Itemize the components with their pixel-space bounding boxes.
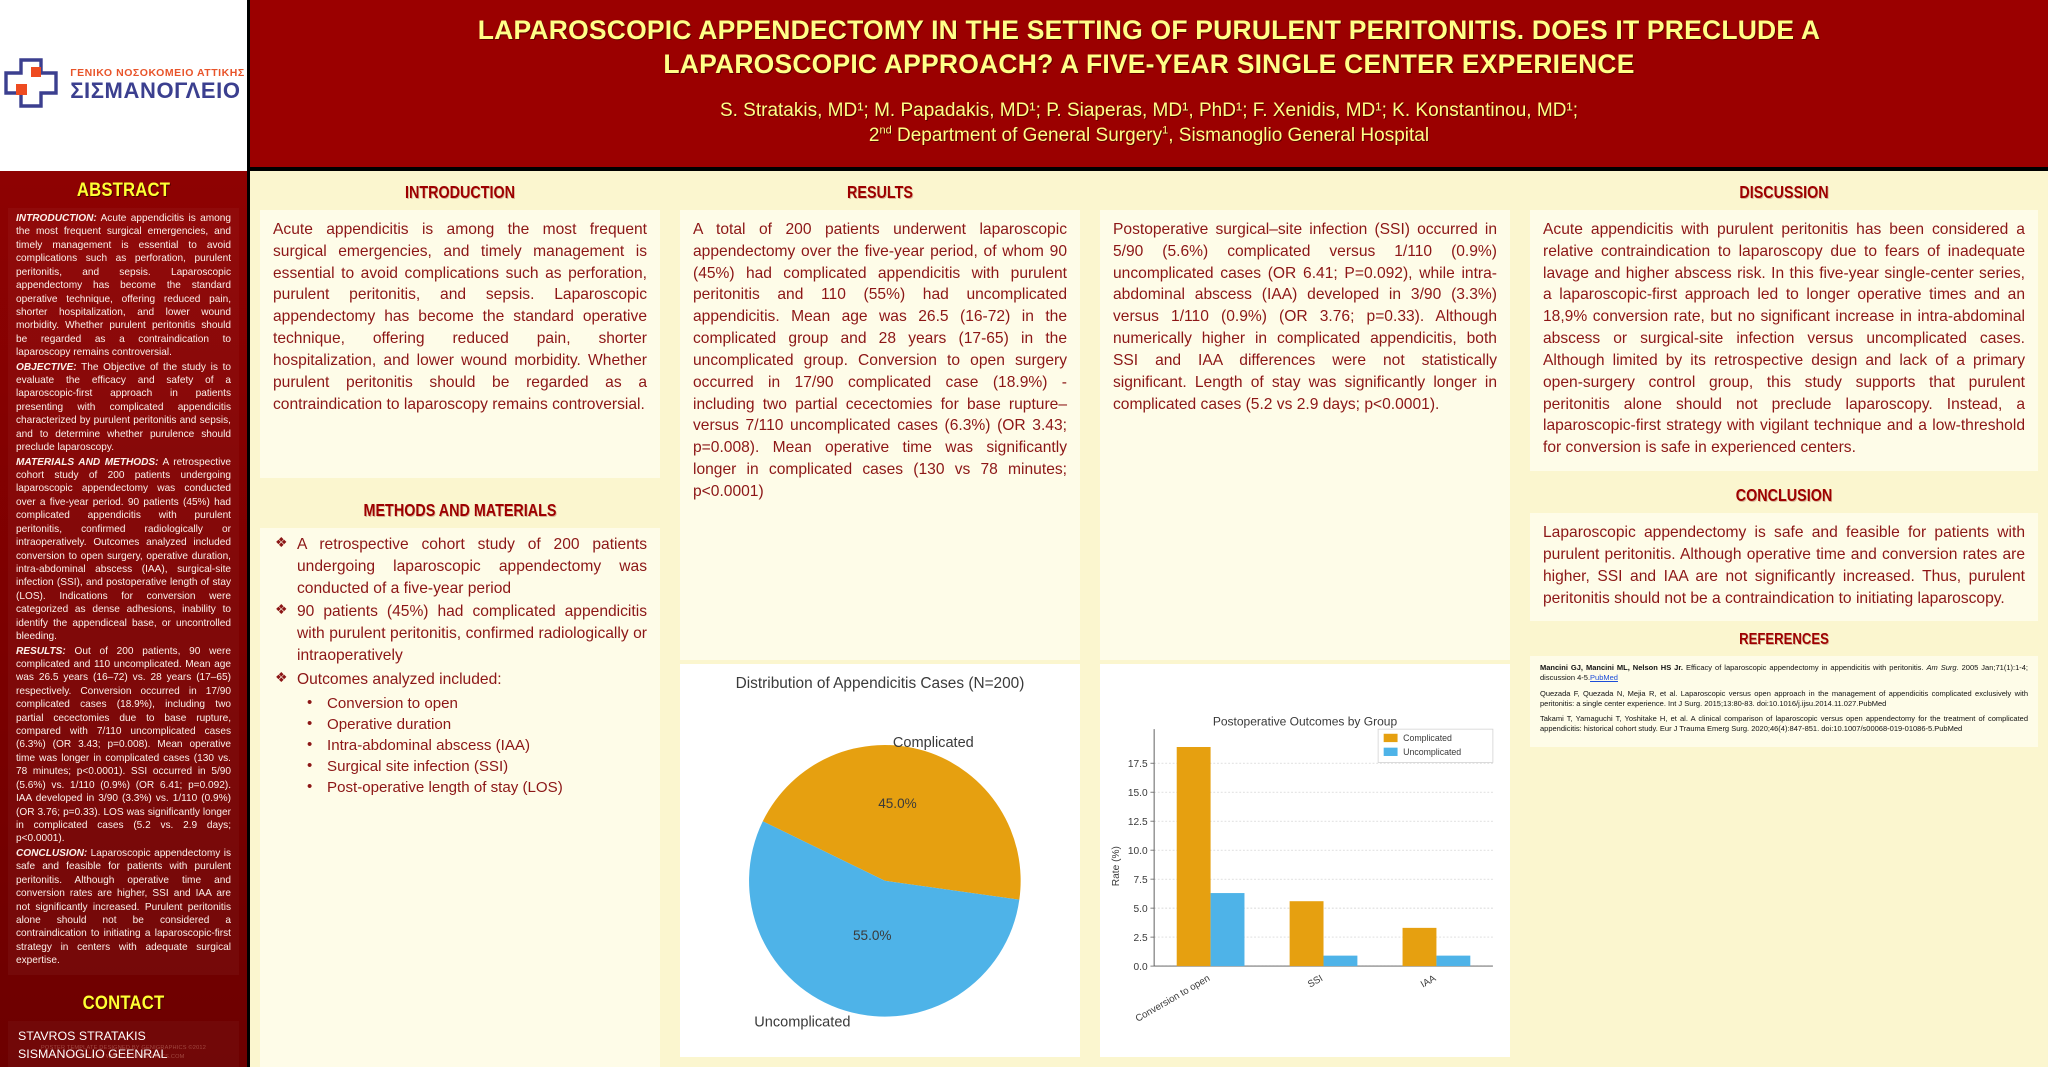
abstract-paragraph-label: RESULTS: (16, 646, 66, 657)
sidebar-column: ABSTRACT INTRODUCTION: Acute appendiciti… (0, 171, 250, 1067)
abstract-body: INTRODUCTION: Acute appendicitis is amon… (8, 208, 239, 975)
methods-bullet: A retrospective cohort study of 200 pati… (273, 534, 647, 599)
introduction-heading: INTRODUCTION (288, 171, 632, 210)
hospital-cross-logo-icon (2, 56, 60, 115)
pie-label-complicated: Complicated (893, 735, 974, 751)
methods-bullet-list: A retrospective cohort study of 200 pati… (273, 534, 647, 691)
hospital-logo: ΓΕΝΙΚΟ ΝΟΣΟΚΟΜΕΙΟ ΑΤΤΙΚΗΣ ΣΙΣΜΑΝΟΓΛΕΙΟ (0, 0, 250, 171)
bar-chart-title: Postoperative Outcomes by Group (1213, 714, 1398, 728)
reference-pubmed-link[interactable]: PubMed (1590, 673, 1618, 682)
y-tick-label: 10.0 (1128, 846, 1148, 857)
poster-authors: S. Stratakis, MD¹; M. Papadakis, MD¹; P.… (720, 98, 1578, 149)
pie-value-complicated: 45.0% (878, 796, 917, 811)
bar-chart: Postoperative Outcomes by Group 0.02.55.… (1106, 670, 1504, 1053)
abstract-paragraph: MATERIALS AND METHODS: A retrospective c… (16, 456, 231, 644)
x-tick-label: IAA (1419, 973, 1439, 991)
methods-outcome-item: Intra-abdominal abscess (IAA) (273, 735, 647, 756)
methods-outcome-item: Post-operative length of stay (LOS) (273, 777, 647, 798)
conclusion-heading: CONCLUSION (1568, 471, 2001, 513)
legend-swatch-complicated (1384, 734, 1398, 742)
hospital-name-greek-main: ΣΙΣΜΑΝΟΓΛΕΙΟ (70, 79, 245, 102)
pie-label-uncomplicated: Uncomplicated (754, 1014, 850, 1030)
bar-uncomplicated-2[interactable] (1436, 956, 1470, 966)
legend-swatch-uncomplicated (1384, 748, 1398, 756)
results-heading: RESULTS (708, 171, 1052, 210)
poster-header: ΓΕΝΙΚΟ ΝΟΣΟΚΟΜΕΙΟ ΑΤΤΙΚΗΣ ΣΙΣΜΑΝΟΓΛΕΙΟ L… (0, 0, 2048, 171)
poster-title: LAPAROSCOPIC APPENDECTOMY IN THE SETTING… (424, 14, 1874, 82)
reference-item: Quezada F, Quezada N, Mejia R, et al. La… (1540, 689, 2028, 709)
credit-line-1: POSTER TEMPLATE DESIGNED BY GENIGRAPHICS… (0, 1044, 247, 1052)
pie-chart: Complicated Uncomplicated 45.0% 55.0% (686, 695, 1074, 1053)
column-results-1: RESULTS A total of 200 patients underwen… (670, 171, 1090, 1067)
pie-chart-title: Distribution of Appendicitis Cases (N=20… (686, 670, 1074, 695)
abstract-paragraph: RESULTS: Out of 200 patients, 90 were co… (16, 645, 231, 846)
column-results-2: RESULTS Postoperative surgical–site infe… (1090, 171, 1520, 1067)
y-tick-label: 7.5 (1134, 875, 1148, 886)
y-tick-label: 0.0 (1134, 962, 1148, 973)
y-tick-label: 5.0 (1134, 904, 1148, 915)
abstract-paragraph-label: OBJECTIVE: (16, 362, 77, 373)
pie-value-uncomplicated: 55.0% (853, 928, 892, 943)
template-credit: POSTER TEMPLATE DESIGNED BY GENIGRAPHICS… (0, 1044, 247, 1061)
y-tick-label: 15.0 (1128, 788, 1148, 799)
y-tick-label: 17.5 (1128, 759, 1148, 770)
abstract-paragraph-label: INTRODUCTION: (16, 213, 97, 224)
reference-authors: Mancini GJ, Mancini ML, Nelson HS Jr. (1540, 663, 1683, 672)
pie-chart-card: Distribution of Appendicitis Cases (N=20… (680, 664, 1080, 1057)
authors-line-1: S. Stratakis, MD¹; M. Papadakis, MD¹; P.… (720, 98, 1578, 124)
legend-label-uncomplicated: Uncomplicated (1403, 747, 1461, 757)
methods-bullet: Outcomes analyzed included: (273, 669, 647, 691)
y-tick-label: 2.5 (1134, 933, 1148, 944)
discussion-text: Acute appendicitis with purulent periton… (1530, 210, 2038, 471)
reference-item: Takami T, Yamaguchi T, Yoshitake H, et a… (1540, 714, 2028, 734)
results-text-1: A total of 200 patients underwent laparo… (680, 210, 1080, 660)
bar-chart-card: Postoperative Outcomes by Group 0.02.55.… (1100, 664, 1510, 1057)
methods-outcome-item: Operative duration (273, 714, 647, 735)
bar-chart-y-axis-label: Rate (%) (1111, 846, 1122, 886)
bar-chart-legend: ComplicatedUncomplicated (1378, 729, 1493, 762)
legend-label-complicated: Complicated (1403, 733, 1452, 743)
bar-chart-x-axis: Conversion to openSSIIAA (1134, 973, 1439, 1025)
results-text-2: Postoperative surgical–site infection (S… (1100, 210, 1510, 660)
column-discussion: DISCUSSION Acute appendicitis with purul… (1520, 171, 2048, 1067)
poster-root: ΓΕΝΙΚΟ ΝΟΣΟΚΟΜΕΙΟ ΑΤΤΙΚΗΣ ΣΙΣΜΑΝΟΓΛΕΙΟ L… (0, 0, 2048, 1067)
references-heading: REFERENCES (1568, 621, 2001, 656)
y-tick-label: 12.5 (1128, 817, 1148, 828)
conclusion-text: Laparoscopic appendectomy is safe and fe… (1530, 513, 2038, 621)
reference-journal: Am Surg (1926, 663, 1956, 672)
title-block: LAPAROSCOPIC APPENDECTOMY IN THE SETTING… (250, 0, 2048, 171)
methods-outcomes-list: Conversion to open Operative duration In… (273, 693, 647, 799)
abstract-paragraph: OBJECTIVE: The Objective of the study is… (16, 361, 231, 455)
bar-uncomplicated-1[interactable] (1324, 956, 1358, 966)
abstract-paragraph-label: CONCLUSION: (16, 848, 87, 859)
x-tick-label: SSI (1306, 973, 1325, 990)
bar-chart-bars (1177, 747, 1471, 966)
main-content: INTRODUCTION Acute appendicitis is among… (250, 171, 2048, 1067)
references-list: Mancini GJ, Mancini ML, Nelson HS Jr. Ef… (1530, 656, 2038, 746)
x-tick-label: Conversion to open (1134, 973, 1212, 1025)
methods-outcome-item: Surgical site infection (SSI) (273, 756, 647, 777)
contact-name: STAVROS STRATAKIS (18, 1027, 229, 1046)
credit-line-2: 1.800.790.4001 WWW.GENIGRAPHICS.COM (0, 1053, 247, 1061)
methods-outcome-item: Conversion to open (273, 693, 647, 714)
abstract-heading: ABSTRACT (22, 171, 225, 208)
abstract-paragraph: CONCLUSION: Laparoscopic appendectomy is… (16, 847, 231, 968)
bar-uncomplicated-0[interactable] (1211, 893, 1245, 966)
bar-complicated-2[interactable] (1403, 928, 1437, 966)
poster-body: ABSTRACT INTRODUCTION: Acute appendiciti… (0, 171, 2048, 1067)
methods-heading: METHODS AND MATERIALS (288, 478, 632, 528)
introduction-text: Acute appendicitis is among the most fre… (260, 210, 660, 478)
contact-heading: CONTACT (22, 975, 225, 1021)
bar-complicated-1[interactable] (1290, 901, 1324, 966)
reference-item: Mancini GJ, Mancini ML, Nelson HS Jr. Ef… (1540, 663, 2028, 683)
authors-line-2: 2nd Department of General Surgery1, Sism… (720, 123, 1578, 149)
discussion-heading: DISCUSSION (1568, 171, 2001, 210)
bar-complicated-0[interactable] (1177, 747, 1211, 966)
abstract-paragraph: INTRODUCTION: Acute appendicitis is amon… (16, 212, 231, 360)
column-introduction: INTRODUCTION Acute appendicitis is among… (250, 171, 670, 1067)
methods-bullet: 90 patients (45%) had complicated append… (273, 601, 647, 666)
abstract-paragraph-label: MATERIALS AND METHODS: (16, 457, 159, 468)
methods-body: A retrospective cohort study of 200 pati… (260, 528, 660, 1067)
